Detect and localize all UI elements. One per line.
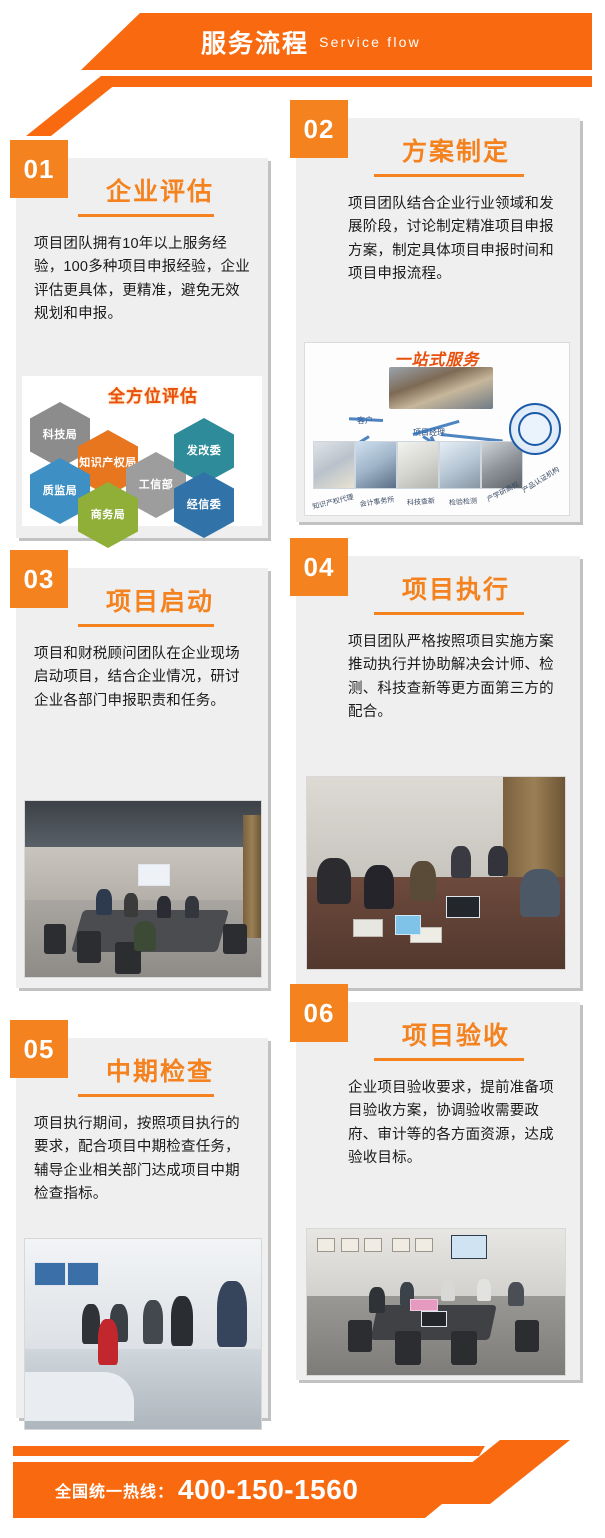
photo-person: [171, 1296, 193, 1346]
step-number-badge: 05: [10, 1020, 68, 1078]
photo-wall-frame: [415, 1238, 433, 1252]
photo-monitor: [67, 1262, 99, 1286]
photo-ceiling: [25, 801, 261, 847]
photo-person: [369, 1287, 385, 1313]
one-stop-service-diagram: 一站式服务 客户 项目经理 知识产权代理 会计事务所 科技查新 检验检测 产学研…: [304, 342, 570, 516]
photo-chair: [77, 931, 101, 963]
step-number-badge: 02: [290, 100, 348, 158]
photo-laptop: [446, 896, 480, 918]
photo-counter: [25, 1372, 134, 1421]
photo-person: [157, 896, 171, 918]
photo-whiteboard: [138, 864, 170, 886]
photo-chair: [515, 1320, 539, 1352]
step-number-badge: 06: [290, 984, 348, 1042]
hex-diagram-title: 全方位评估: [108, 382, 198, 407]
header-accent-stripe: [0, 76, 592, 87]
lobby-visit-photo: [24, 1238, 262, 1430]
photo-scene: [307, 1229, 565, 1375]
step-body-text: 项目和财税顾问团队在企业现场启动项目，结合企业情况，研讨企业各部门申报职责和任务…: [16, 627, 268, 725]
photo-person: [82, 1304, 100, 1344]
photo-person: [488, 846, 508, 876]
step-card-04[interactable]: 04 项目执行 项目团队严格按照项目实施方案推动执行并协助解决会计师、检测、科技…: [296, 556, 580, 988]
photo-scene: [25, 1239, 261, 1429]
page-header: 服务流程 Service flow: [0, 0, 605, 108]
hotline-group: 全国统一热线： 400-150-1560: [55, 1462, 358, 1518]
photo-chair: [395, 1331, 421, 1365]
photo-wall-frame: [364, 1238, 382, 1252]
photo-person: [143, 1300, 163, 1344]
photo-person: [134, 921, 156, 951]
page-subtitle: Service flow: [319, 34, 421, 50]
oss-iso-seal-icon: [509, 403, 561, 455]
header-title-group: 服务流程 Service flow: [0, 13, 592, 70]
photo-person: [410, 861, 436, 901]
page-footer: 全国统一热线： 400-150-1560: [0, 1420, 605, 1538]
step-body-text: 项目团队严格按照项目实施方案推动执行并协助解决会计师、检测、科技查新等更方面第三…: [296, 615, 580, 737]
photo-person: [217, 1281, 247, 1347]
photo-chair: [348, 1320, 372, 1352]
photo-chair: [44, 924, 66, 954]
step-card-06[interactable]: 06 项目验收 企业项目验收要求，提前准备项目验收方案，协调验收需要政府、审计等…: [296, 1002, 580, 1380]
photo-wall-frame: [317, 1238, 335, 1252]
photo-monitor: [34, 1262, 66, 1286]
photo-person: [451, 846, 471, 878]
boardroom-photo: [306, 1228, 566, 1376]
photo-flowers: [410, 1299, 438, 1311]
step-card-05[interactable]: 05 中期检查 项目执行期间，按照项目执行的要求，配合项目中期检查任务，辅导企业…: [16, 1038, 268, 1418]
conference-room-photo: [24, 800, 262, 978]
oss-thumb-3: [397, 441, 439, 489]
photo-wall-frame: [341, 1238, 359, 1252]
step-card-03[interactable]: 03 项目启动 项目和财税顾问团队在企业现场启动项目，结合企业情况，研讨企业各部…: [16, 568, 268, 988]
step-number-badge: 03: [10, 550, 68, 608]
photo-person: [364, 865, 394, 909]
photo-chair: [451, 1331, 477, 1365]
photo-laptop: [421, 1311, 447, 1327]
meeting-table-photo: [306, 776, 566, 970]
photo-person: [124, 893, 138, 917]
photo-person: [185, 896, 199, 918]
hotline-label: 全国统一热线：: [55, 1478, 174, 1502]
photo-wood-panel: [243, 815, 261, 938]
photo-bag: [395, 915, 421, 935]
oss-thumb-4: [439, 441, 481, 489]
step-body-text: 项目团队结合企业行业领域和发展阶段，讨论制定精准项目申报方案，制定具体项目申报时…: [296, 177, 580, 299]
oss-thumb-2: [355, 441, 397, 489]
oss-thumb-1: [313, 441, 355, 489]
photo-wall-frame: [392, 1238, 410, 1252]
step-card-01[interactable]: 01 企业评估 项目团队拥有10年以上服务经验，100多种项目申报经验，企业评估…: [16, 158, 268, 538]
hotline-number[interactable]: 400-150-1560: [178, 1474, 358, 1506]
photo-person-red-coat: [98, 1319, 118, 1365]
photo-person: [96, 889, 112, 915]
photo-papers: [353, 919, 383, 937]
step-body-text: 企业项目验收要求，提前准备项目验收方案，协调验收需要政府、审计等的各方面资源，达…: [296, 1061, 580, 1183]
photo-person: [520, 869, 560, 917]
page-title: 服务流程: [201, 24, 309, 60]
step-number-badge: 04: [290, 538, 348, 596]
oss-hero-photo: [389, 367, 493, 409]
step-number-badge: 01: [10, 140, 68, 198]
step-card-02[interactable]: 02 方案制定 项目团队结合企业行业领域和发展阶段，讨论制定精准项目申报方案，制…: [296, 118, 580, 522]
photo-person: [441, 1279, 455, 1301]
photo-person: [508, 1282, 524, 1306]
photo-person: [317, 858, 351, 904]
step-body-text: 项目团队拥有10年以上服务经验，100多种项目申报经验，企业评估更具体，更精准，…: [16, 217, 268, 339]
photo-scene: [25, 801, 261, 977]
hexagon-assessment-diagram: 全方位评估 科技局 知识产权局 质监局 工信部 商务局 发改委 经信委: [22, 376, 262, 526]
photo-display: [451, 1235, 487, 1259]
photo-person: [477, 1279, 491, 1301]
photo-scene: [307, 777, 565, 969]
photo-chair: [223, 924, 247, 954]
step-body-text: 项目执行期间，按照项目执行的要求，配合项目中期检查任务，辅导企业相关部门达成项目…: [16, 1097, 268, 1219]
